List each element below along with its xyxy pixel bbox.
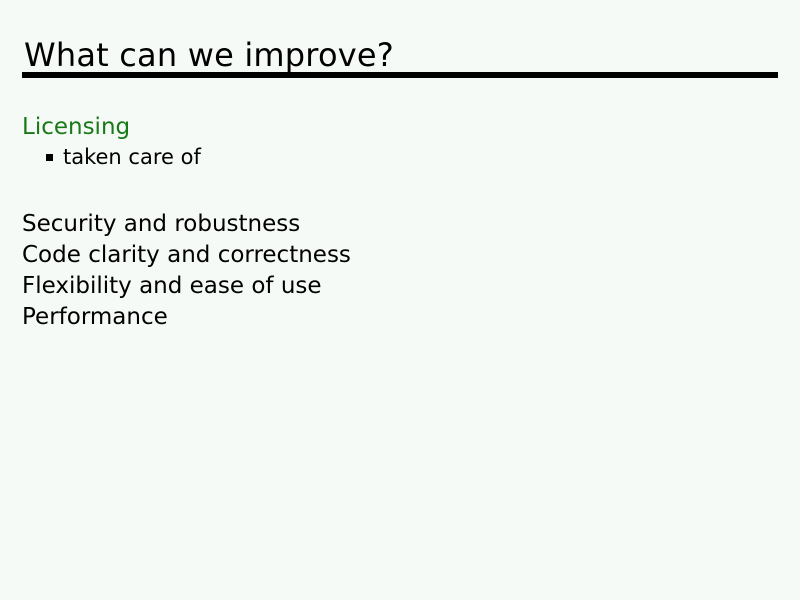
- bullet-security-and-robustness: Security and robustness: [22, 210, 300, 238]
- bullet-taken-care-of-label: taken care of: [63, 144, 201, 170]
- bullet-licensing: Licensing: [22, 113, 130, 141]
- bullet-taken-care-of: taken care of: [46, 144, 201, 170]
- title-underline-rule: [22, 72, 778, 78]
- square-bullet-icon: [46, 154, 53, 161]
- bullet-code-clarity-and-correctness: Code clarity and correctness: [22, 241, 351, 269]
- presentation-slide: What can we improve? Licensing taken car…: [0, 0, 800, 600]
- bullet-performance: Performance: [22, 303, 168, 331]
- page-title: What can we improve?: [24, 36, 394, 74]
- bullet-flexibility-and-ease-of-use: Flexibility and ease of use: [22, 272, 322, 300]
